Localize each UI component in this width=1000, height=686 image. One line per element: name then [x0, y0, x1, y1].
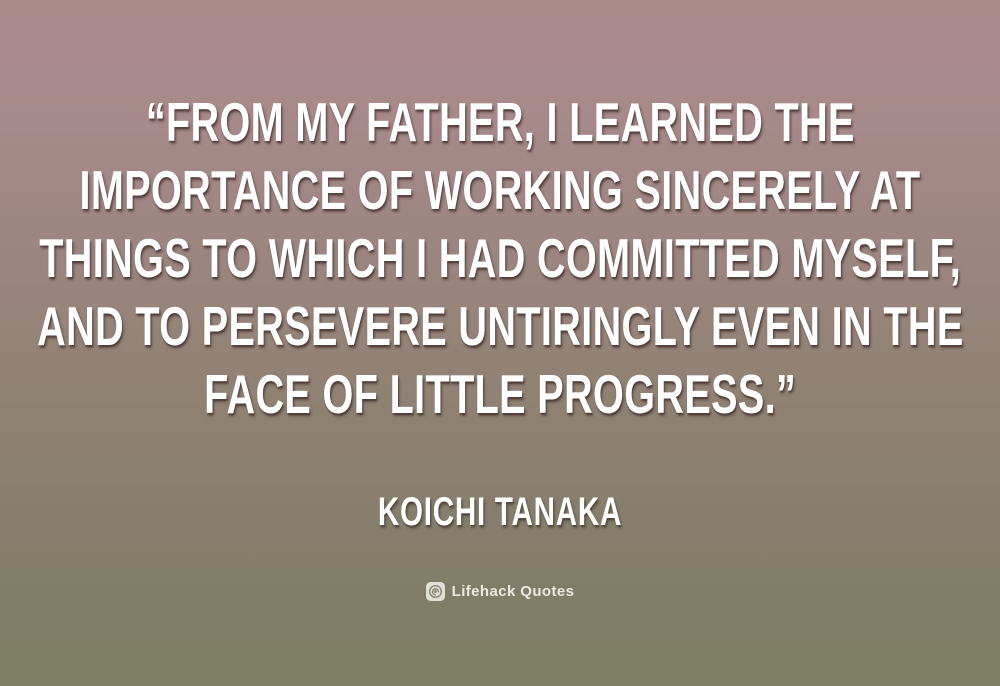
brand-footer: Lifehack Quotes	[426, 582, 575, 601]
quote-image-card: “FROM MY FATHER, I LEARNED THE IMPORTANC…	[0, 0, 1000, 686]
quote-line: “FROM MY FATHER, I LEARNED THE	[146, 88, 855, 156]
quote-line: THINGS TO WHICH I HAD COMMITTED MYSELF,	[39, 224, 961, 292]
quote-author-name: KOICHI TANAKA	[378, 490, 622, 534]
quote-line: IMPORTANCE OF WORKING SINCERELY AT	[80, 156, 921, 224]
quote-text-block: “FROM MY FATHER, I LEARNED THE IMPORTANC…	[0, 88, 1000, 428]
quote-line: FACE OF LITTLE PROGRESS.”	[204, 360, 796, 428]
lifehack-logo-icon	[426, 582, 445, 601]
quote-line: AND TO PERSEVERE UNTIRINGLY EVEN IN THE	[37, 292, 963, 360]
brand-label: Lifehack Quotes	[452, 583, 575, 600]
